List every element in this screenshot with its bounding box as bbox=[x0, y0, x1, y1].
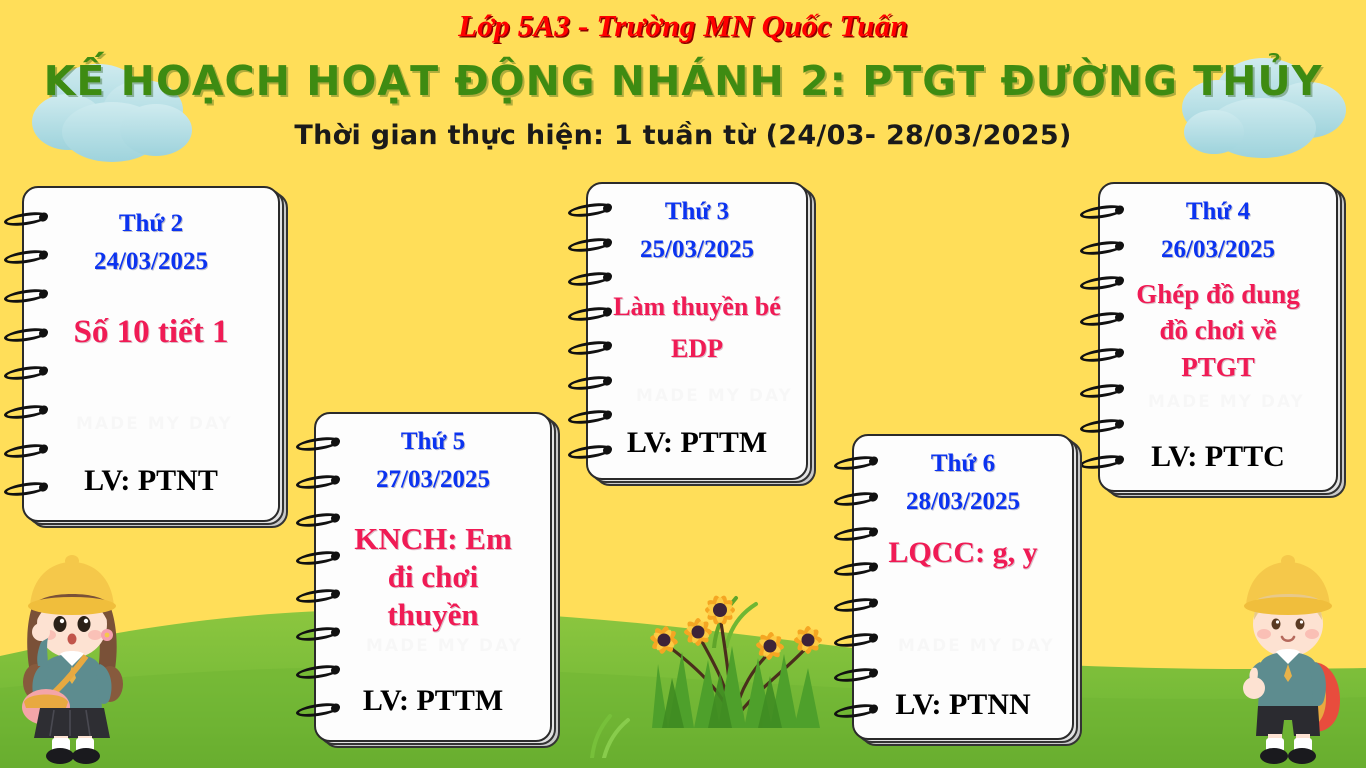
card-activity-label: LQCC: g, y bbox=[888, 536, 1037, 570]
schoolgirl-illustration bbox=[8, 532, 138, 764]
day-card-friday[interactable]: Thứ 6 28/03/2025 LQCC: g, y MADE MY DAY … bbox=[852, 434, 1074, 740]
card-page: Thứ 6 28/03/2025 LQCC: g, y MADE MY DAY … bbox=[852, 434, 1074, 740]
card-field-label: LV: PTTM bbox=[363, 684, 503, 718]
schoolboy-illustration bbox=[1226, 536, 1354, 764]
card-watermark: MADE MY DAY bbox=[898, 636, 1055, 656]
flower-cluster-illustration bbox=[612, 568, 852, 728]
card-date-label: 25/03/2025 bbox=[640, 236, 754, 264]
day-card-thursday[interactable]: Thứ 5 27/03/2025 KNCH: Em đi chơi thuyền… bbox=[314, 412, 552, 742]
card-activity-label: Số 10 tiết 1 bbox=[74, 314, 229, 351]
day-card-tuesday[interactable]: Thứ 3 25/03/2025 Làm thuyền bé EDP MADE … bbox=[586, 182, 808, 480]
card-page: Thứ 5 27/03/2025 KNCH: Em đi chơi thuyền… bbox=[314, 412, 552, 742]
card-watermark: MADE MY DAY bbox=[636, 386, 793, 406]
card-date-label: 27/03/2025 bbox=[376, 466, 490, 494]
card-page: Thứ 2 24/03/2025 Số 10 tiết 1 MADE MY DA… bbox=[22, 186, 280, 522]
card-day-label: Thứ 6 bbox=[931, 450, 995, 478]
card-field-label: LV: PTTC bbox=[1151, 440, 1285, 474]
card-day-label: Thứ 3 bbox=[665, 198, 729, 226]
card-date-label: 26/03/2025 bbox=[1161, 236, 1275, 264]
card-day-label: Thứ 5 bbox=[401, 428, 465, 456]
day-card-wednesday[interactable]: Thứ 4 26/03/2025 Ghép đồ dung đồ chơi về… bbox=[1098, 182, 1338, 492]
card-page: Thứ 3 25/03/2025 Làm thuyền bé EDP MADE … bbox=[586, 182, 808, 480]
card-date-label: 24/03/2025 bbox=[94, 248, 208, 276]
card-activity-label: Ghép đồ dung đồ chơi về PTGT bbox=[1136, 276, 1300, 385]
card-field-label: LV: PTNT bbox=[84, 464, 218, 498]
card-date-label: 28/03/2025 bbox=[906, 488, 1020, 516]
card-day-label: Thứ 4 bbox=[1186, 198, 1250, 226]
day-card-monday[interactable]: Thứ 2 24/03/2025 Số 10 tiết 1 MADE MY DA… bbox=[22, 186, 280, 522]
card-page: Thứ 4 26/03/2025 Ghép đồ dung đồ chơi về… bbox=[1098, 182, 1338, 492]
card-field-label: LV: PTNN bbox=[895, 688, 1030, 722]
page-subheading-school: Lớp 5A3 - Trường MN Quốc Tuấn bbox=[0, 8, 1366, 44]
card-day-label: Thứ 2 bbox=[119, 210, 183, 238]
page-timeframe: Thời gian thực hiện: 1 tuần từ (24/03- 2… bbox=[0, 120, 1366, 151]
card-activity-label: KNCH: Em đi chơi thuyền bbox=[354, 520, 512, 633]
card-watermark: MADE MY DAY bbox=[366, 636, 523, 656]
card-field-label: LV: PTTM bbox=[627, 426, 767, 460]
poster-canvas: Lớp 5A3 - Trường MN Quốc Tuấn KẾ HOẠCH H… bbox=[0, 0, 1366, 768]
card-activity-label: Làm thuyền bé EDP bbox=[613, 286, 781, 369]
page-title: KẾ HOẠCH HOẠT ĐỘNG NHÁNH 2: PTGT ĐƯỜNG T… bbox=[0, 57, 1366, 105]
card-watermark: MADE MY DAY bbox=[1148, 392, 1305, 412]
card-watermark: MADE MY DAY bbox=[76, 414, 233, 434]
